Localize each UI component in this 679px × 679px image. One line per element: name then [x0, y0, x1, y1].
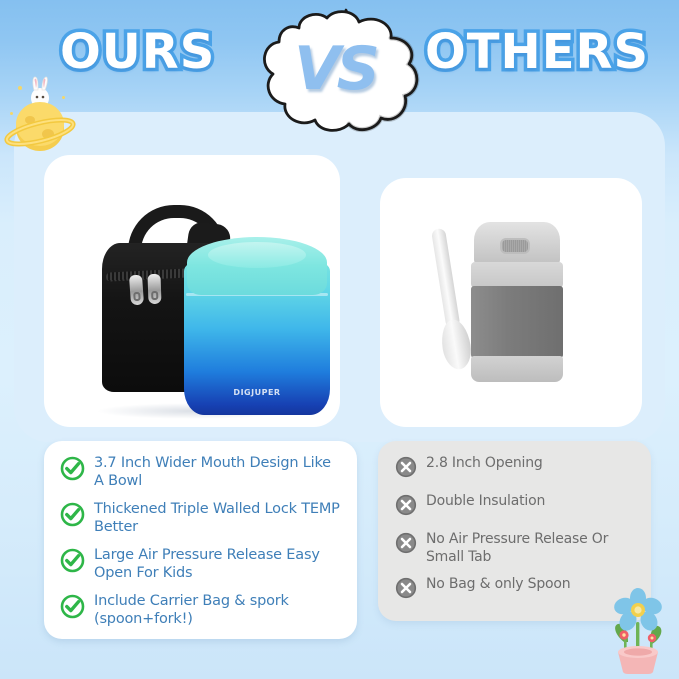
list-item: Thickened Triple Walled Lock TEMP Better [44, 501, 357, 536]
ours-heading: OURS [60, 24, 215, 80]
flower-pot-decoration [602, 586, 674, 674]
vs-label: VS [246, 4, 424, 140]
thermos-base [471, 356, 563, 382]
list-item-label: Thickened Triple Walled Lock TEMP Better [94, 501, 343, 536]
list-item: 3.7 Inch Wider Mouth Design Like A Bowl [44, 455, 357, 490]
list-item-label: Include Carrier Bag & spork (spoon+fork!… [94, 593, 343, 628]
list-item: No Air Pressure Release Or Small Tab [378, 531, 651, 566]
thermos-cap [474, 222, 560, 264]
comparison-infographic: OURS OTHERS VS [0, 0, 679, 679]
list-item: Include Carrier Bag & spork (spoon+fork!… [44, 593, 357, 628]
thermos-button [500, 238, 530, 254]
list-item-label: No Air Pressure Release Or Small Tab [426, 531, 637, 566]
spoon-handle [431, 228, 460, 329]
list-item: 2.8 Inch Opening [378, 455, 651, 483]
list-item: Large Air Pressure Release Easy Open For… [44, 547, 357, 582]
check-circle-icon [60, 456, 85, 486]
pros-list: 3.7 Inch Wider Mouth Design Like A Bowl … [44, 441, 357, 639]
flower-icon [602, 586, 674, 674]
ours-product-image: DIGJUPER [44, 155, 340, 427]
check-circle-icon [60, 548, 85, 578]
x-circle-icon [395, 577, 417, 604]
others-product-image [380, 178, 642, 427]
others-heading: OTHERS [425, 24, 649, 80]
x-circle-icon [395, 532, 417, 559]
zipper-pull-icon [147, 274, 161, 304]
food-jar: DIGJUPER [184, 237, 330, 415]
check-circle-icon [60, 594, 85, 624]
list-item-label: Double Insulation [426, 493, 545, 511]
grey-thermos [468, 222, 566, 382]
thermos-neck [471, 262, 563, 288]
jar-lid-top [208, 242, 306, 268]
ours-feature-card: 3.7 Inch Wider Mouth Design Like A Bowl … [44, 441, 357, 639]
list-item-label: No Bag & only Spoon [426, 576, 570, 594]
plain-spoon [425, 227, 473, 371]
x-circle-icon [395, 456, 417, 483]
list-item-label: 2.8 Inch Opening [426, 455, 543, 473]
list-item-label: Large Air Pressure Release Easy Open For… [94, 547, 343, 582]
jar-brand-label: DIGJUPER [184, 388, 330, 397]
list-item: Double Insulation [378, 493, 651, 521]
thermos-body [471, 286, 563, 358]
x-circle-icon [395, 494, 417, 521]
vs-cloud-badge: VS [246, 4, 424, 140]
zipper-pull-icon [129, 275, 144, 306]
check-circle-icon [60, 502, 85, 532]
list-item-label: 3.7 Inch Wider Mouth Design Like A Bowl [94, 455, 343, 490]
